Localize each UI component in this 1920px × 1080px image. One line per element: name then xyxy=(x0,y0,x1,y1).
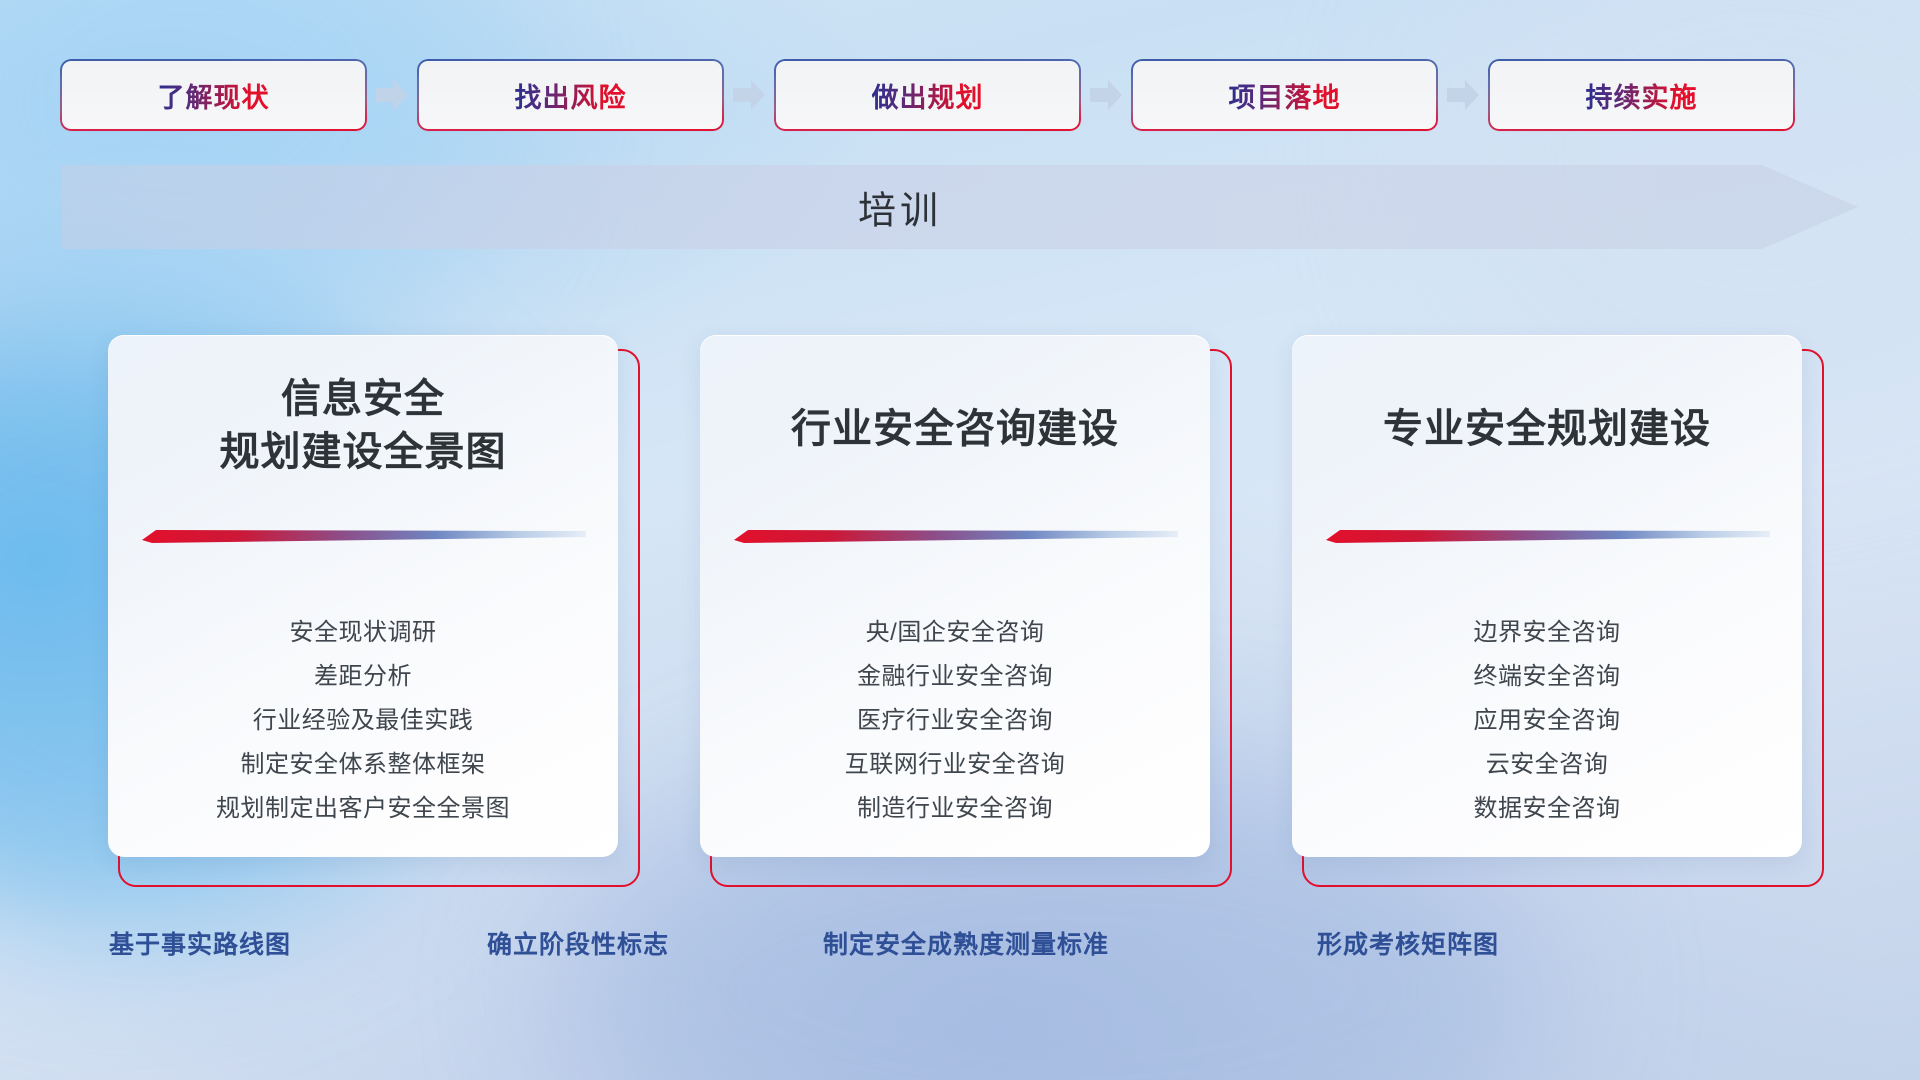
card-title: 专业安全规划建设 xyxy=(1292,403,1802,456)
list-item: 安全现状调研 xyxy=(108,611,618,655)
slide-canvas: 了解现状 找出风险 做出规划 项目落地 xyxy=(0,0,1920,1080)
card-item-list: 边界安全咨询 终端安全咨询 应用安全咨询 云安全咨询 数据安全咨询 xyxy=(1292,611,1802,831)
step-label: 做出规划 xyxy=(872,76,984,115)
step-item-5[interactable]: 持续实施 xyxy=(1490,61,1793,129)
step-item-1[interactable]: 了解现状 xyxy=(62,61,365,129)
card-body: 信息安全 规划建设全景图 xyxy=(108,335,618,857)
step-label: 持续实施 xyxy=(1586,76,1698,115)
list-item: 互联网行业安全咨询 xyxy=(700,743,1210,787)
card-title: 信息安全 规划建设全景图 xyxy=(108,373,618,479)
card-title-line: 信息安全 xyxy=(132,373,594,426)
card-divider xyxy=(734,530,1178,543)
list-item: 医疗行业安全咨询 xyxy=(700,699,1210,743)
card-body: 行业安全咨询建设 xyxy=(700,335,1210,857)
bottom-label-4: 形成考核矩阵图 xyxy=(1317,925,1499,961)
card-body: 专业安全规划建设 xyxy=(1292,335,1802,857)
list-item: 央/国企安全咨询 xyxy=(700,611,1210,655)
card-2[interactable]: 行业安全咨询建设 xyxy=(700,335,1232,887)
card-3[interactable]: 专业安全规划建设 xyxy=(1292,335,1824,887)
list-item: 边界安全咨询 xyxy=(1292,611,1802,655)
chevron-right-arrow-icon xyxy=(1084,73,1128,117)
card-1[interactable]: 信息安全 规划建设全景图 xyxy=(108,335,640,887)
list-item: 金融行业安全咨询 xyxy=(700,655,1210,699)
list-item: 制定安全体系整体框架 xyxy=(108,743,618,787)
chevron-right-arrow-icon xyxy=(370,73,414,117)
step-label: 找出风险 xyxy=(515,76,627,115)
bottom-label-2: 确立阶段性标志 xyxy=(487,925,669,961)
bottom-label-row: 基于事实路线图 确立阶段性标志 制定安全成熟度测量标准 形成考核矩阵图 xyxy=(0,925,1920,969)
card-divider xyxy=(1326,530,1770,543)
list-item: 云安全咨询 xyxy=(1292,743,1802,787)
card-divider xyxy=(142,530,586,543)
list-item: 制造行业安全咨询 xyxy=(700,787,1210,831)
step-label: 了解现状 xyxy=(158,76,270,115)
bottom-label-1: 基于事实路线图 xyxy=(109,925,291,961)
card-title-line: 专业安全规划建设 xyxy=(1316,403,1778,456)
list-item: 数据安全咨询 xyxy=(1292,787,1802,831)
step-item-3[interactable]: 做出规划 xyxy=(776,61,1079,129)
card-title-line: 规划建设全景图 xyxy=(132,426,594,479)
step-item-2[interactable]: 找出风险 xyxy=(419,61,722,129)
card-item-list: 安全现状调研 差距分析 行业经验及最佳实践 制定安全体系整体框架 规划制定出客户… xyxy=(108,611,618,831)
step-label: 项目落地 xyxy=(1229,76,1341,115)
process-step-row: 了解现状 找出风险 做出规划 项目落地 xyxy=(62,60,1858,130)
step-item-4[interactable]: 项目落地 xyxy=(1133,61,1436,129)
list-item: 行业经验及最佳实践 xyxy=(108,699,618,743)
list-item: 规划制定出客户安全全景图 xyxy=(108,787,618,831)
chevron-right-arrow-icon xyxy=(727,73,771,117)
training-banner: 培训 xyxy=(62,165,1858,249)
card-title-line: 行业安全咨询建设 xyxy=(724,403,1186,456)
card-item-list: 央/国企安全咨询 金融行业安全咨询 医疗行业安全咨询 互联网行业安全咨询 制造行… xyxy=(700,611,1210,831)
chevron-right-arrow-icon xyxy=(1441,73,1485,117)
list-item: 应用安全咨询 xyxy=(1292,699,1802,743)
banner-label: 培训 xyxy=(62,180,1858,235)
list-item: 差距分析 xyxy=(108,655,618,699)
card-row: 信息安全 规划建设全景图 xyxy=(108,335,1824,887)
card-title: 行业安全咨询建设 xyxy=(700,403,1210,456)
bottom-label-3: 制定安全成熟度测量标准 xyxy=(823,925,1109,961)
list-item: 终端安全咨询 xyxy=(1292,655,1802,699)
